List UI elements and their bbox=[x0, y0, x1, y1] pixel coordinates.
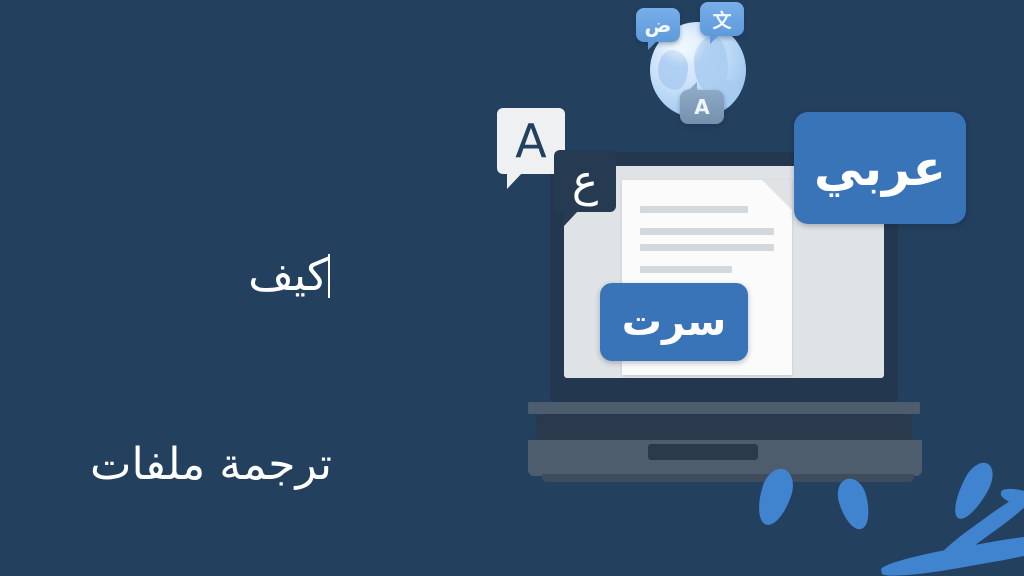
badge-arabic: عربي bbox=[794, 112, 966, 224]
laptop-trackpad bbox=[648, 444, 758, 460]
badge-serbian-label: سرت bbox=[622, 299, 726, 345]
globe-bubble-arabic-icon: ض bbox=[636, 8, 680, 42]
text-cursor bbox=[328, 254, 330, 298]
badge-serbian: سرت bbox=[600, 283, 748, 361]
document-text-line bbox=[640, 266, 732, 273]
laptop-foot bbox=[542, 474, 914, 482]
globe-bubble-chinese-icon: 文 bbox=[700, 2, 744, 36]
headline-line-1-text: كيف bbox=[248, 250, 328, 301]
splash-shape bbox=[833, 475, 874, 533]
document-text-line bbox=[640, 206, 748, 213]
globe-cluster: ض 文 A bbox=[636, 2, 764, 134]
laptop-keyboard bbox=[535, 414, 913, 442]
chat-bubble-latin-label: A bbox=[515, 114, 546, 168]
document-text-line bbox=[640, 228, 774, 235]
headline-line-1: كيف bbox=[0, 244, 332, 307]
document-text-line bbox=[640, 244, 774, 251]
page-title: كيف ترجمة ملفات الصربية إلى العربية: الد… bbox=[0, 118, 360, 576]
chat-bubble-arabic-label: ع bbox=[572, 156, 598, 207]
globe-bubble-chinese-label: 文 bbox=[712, 6, 731, 33]
globe-bubble-latin-icon: A bbox=[680, 90, 724, 124]
badge-arabic-label: عربي bbox=[814, 140, 946, 197]
headline-line-2: ترجمة ملفات bbox=[0, 433, 332, 496]
globe-bubble-arabic-label: ض bbox=[645, 13, 672, 37]
globe-bubble-latin-label: A bbox=[694, 95, 709, 119]
chat-bubble-arabic-icon: ع bbox=[554, 150, 616, 212]
poster-canvas: كيف ترجمة ملفات الصربية إلى العربية: الد… bbox=[0, 0, 1024, 576]
laptop-hinge bbox=[528, 402, 920, 414]
document-fold-corner bbox=[762, 180, 792, 210]
